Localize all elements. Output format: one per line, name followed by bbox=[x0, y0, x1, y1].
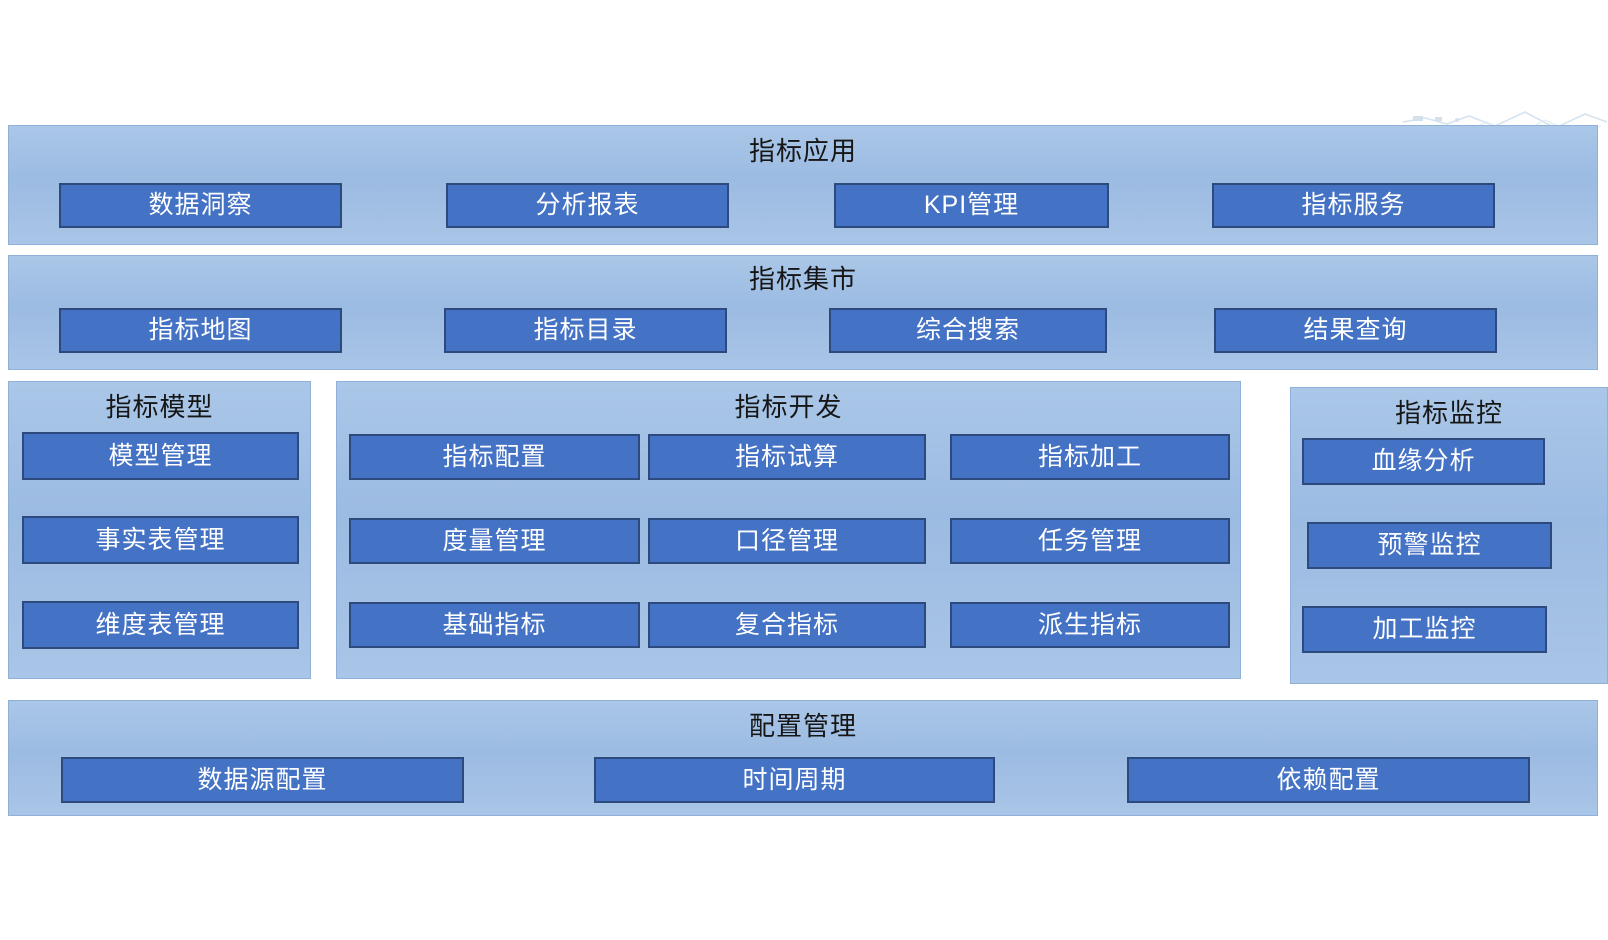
develop-button-indicator-trial-calculation[interactable]: 指标试算 bbox=[648, 434, 926, 480]
develop-button-derived-indicator[interactable]: 派生指标 bbox=[950, 602, 1230, 648]
develop-button-indicator-processing[interactable]: 指标加工 bbox=[950, 434, 1230, 480]
develop-button-indicator-config[interactable]: 指标配置 bbox=[349, 434, 640, 480]
market-button-indicator-catalog[interactable]: 指标目录 bbox=[444, 308, 727, 353]
config-button-dependency-config[interactable]: 依赖配置 bbox=[1127, 757, 1530, 803]
architecture-diagram-canvas: 指标应用 数据洞察 分析报表 KPI管理 指标服务 指标集市 指标地图 指标目录… bbox=[0, 0, 1608, 940]
monitor-button-alert-monitoring[interactable]: 预警监控 bbox=[1307, 522, 1552, 569]
market-button-result-query[interactable]: 结果查询 bbox=[1214, 308, 1497, 353]
market-button-indicator-map[interactable]: 指标地图 bbox=[59, 308, 342, 353]
layer-title-monitor: 指标监控 bbox=[1291, 398, 1607, 428]
layer-title-app: 指标应用 bbox=[9, 136, 1597, 166]
layer-panel-market: 指标集市 指标地图 指标目录 综合搜索 结果查询 bbox=[8, 255, 1598, 370]
app-button-data-insight[interactable]: 数据洞察 bbox=[59, 183, 342, 228]
develop-button-composite-indicator[interactable]: 复合指标 bbox=[648, 602, 926, 648]
model-button-model-management[interactable]: 模型管理 bbox=[22, 432, 299, 480]
develop-button-basic-indicator[interactable]: 基础指标 bbox=[349, 602, 640, 648]
monitor-button-lineage-analysis[interactable]: 血缘分析 bbox=[1302, 438, 1545, 485]
layer-title-config: 配置管理 bbox=[9, 711, 1597, 741]
monitor-button-processing-monitoring[interactable]: 加工监控 bbox=[1302, 606, 1547, 653]
app-button-indicator-service[interactable]: 指标服务 bbox=[1212, 183, 1495, 228]
app-button-kpi-management[interactable]: KPI管理 bbox=[834, 183, 1109, 228]
app-button-analysis-report[interactable]: 分析报表 bbox=[446, 183, 729, 228]
market-button-comprehensive-search[interactable]: 综合搜索 bbox=[829, 308, 1107, 353]
model-button-fact-table-management[interactable]: 事实表管理 bbox=[22, 516, 299, 564]
develop-button-measure-management[interactable]: 度量管理 bbox=[349, 518, 640, 564]
layer-panel-model: 指标模型 模型管理 事实表管理 维度表管理 bbox=[8, 381, 311, 679]
layer-panel-develop: 指标开发 指标配置 指标试算 指标加工 度量管理 口径管理 任务管理 基础指标 … bbox=[336, 381, 1241, 679]
layer-panel-app: 指标应用 数据洞察 分析报表 KPI管理 指标服务 bbox=[8, 125, 1598, 245]
layer-title-market: 指标集市 bbox=[9, 264, 1597, 294]
develop-button-task-management[interactable]: 任务管理 bbox=[950, 518, 1230, 564]
layer-title-develop: 指标开发 bbox=[337, 392, 1240, 422]
config-button-datasource-config[interactable]: 数据源配置 bbox=[61, 757, 464, 803]
develop-button-caliber-management[interactable]: 口径管理 bbox=[648, 518, 926, 564]
model-button-dimension-table-management[interactable]: 维度表管理 bbox=[22, 601, 299, 649]
layer-title-model: 指标模型 bbox=[9, 392, 310, 422]
config-button-time-period[interactable]: 时间周期 bbox=[594, 757, 995, 803]
layer-panel-config: 配置管理 数据源配置 时间周期 依赖配置 bbox=[8, 700, 1598, 816]
layer-panel-monitor: 指标监控 血缘分析 预警监控 加工监控 bbox=[1290, 387, 1608, 684]
